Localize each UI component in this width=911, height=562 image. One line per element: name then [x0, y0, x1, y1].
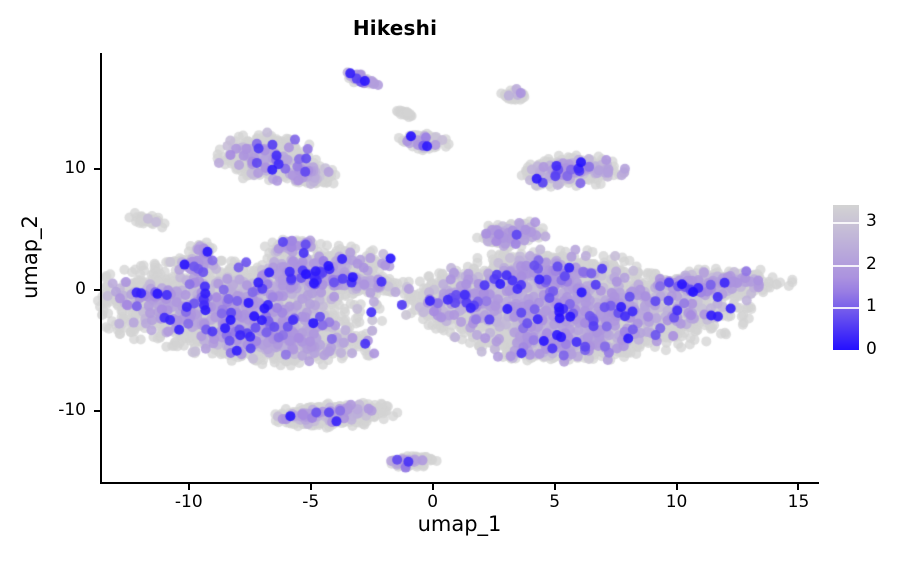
x-axis-label: umap_1	[100, 512, 819, 536]
scatter-plot-canvas	[0, 0, 911, 562]
colorbar-tick	[833, 307, 859, 309]
umap-feature-plot: Hikeshi -10-5051015-10010 umap_1 umap_2 …	[0, 0, 911, 562]
x-tick-label: 15	[768, 492, 828, 512]
x-tick	[188, 484, 190, 490]
x-tick-label: 0	[403, 492, 463, 512]
y-tick	[94, 168, 100, 170]
x-tick-label: -10	[159, 492, 219, 512]
colorbar-tick	[833, 265, 859, 267]
colorbar-tick	[833, 222, 859, 224]
colorbar-gradient	[833, 205, 859, 350]
x-tick	[310, 484, 312, 490]
x-tick-label: 10	[647, 492, 707, 512]
y-tick-label: -10	[26, 400, 86, 420]
scatter-canvas-container	[0, 0, 911, 562]
x-tick-label: -5	[281, 492, 341, 512]
x-tick	[676, 484, 678, 490]
y-axis-label: umap_2	[18, 157, 42, 357]
y-axis-spine	[100, 53, 102, 484]
x-tick	[432, 484, 434, 490]
colorbar	[833, 205, 859, 350]
x-tick	[797, 484, 799, 490]
colorbar-tick-label: 0	[866, 339, 877, 359]
x-tick-label: 5	[525, 492, 585, 512]
x-tick	[554, 484, 556, 490]
colorbar-tick-label: 2	[866, 254, 877, 274]
y-tick	[94, 410, 100, 412]
y-tick	[94, 289, 100, 291]
colorbar-tick-label: 1	[866, 296, 877, 316]
colorbar-tick-label: 3	[866, 211, 877, 231]
x-axis-spine	[100, 482, 819, 484]
